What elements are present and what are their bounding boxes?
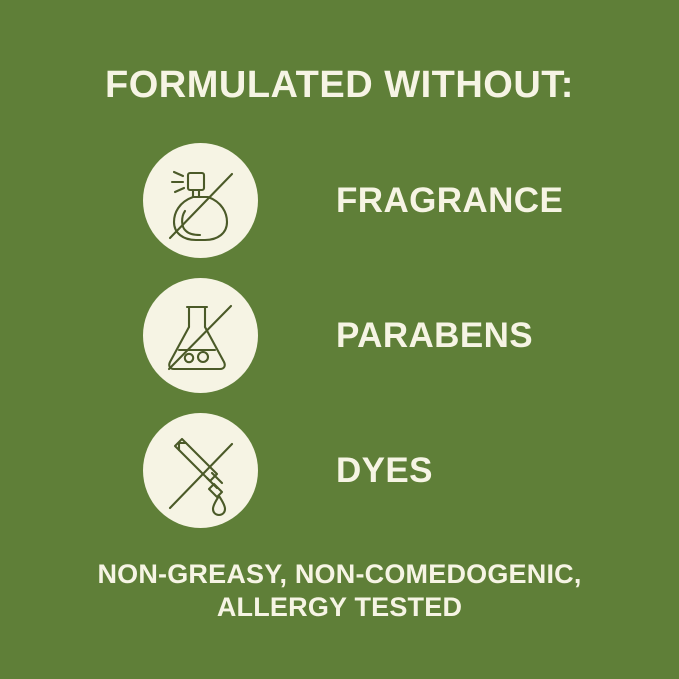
list-item-label: PARABENS xyxy=(336,278,533,393)
no-dropper-icon xyxy=(143,413,258,528)
page-title: FORMULATED WITHOUT: xyxy=(0,66,679,104)
list-item-label: FRAGRANCE xyxy=(336,143,563,258)
footer-line-1: NON-GREASY, NON-COMEDOGENIC, xyxy=(0,558,679,591)
list-item: PARABENS xyxy=(0,278,679,413)
formulated-without-panel: FORMULATED WITHOUT: xyxy=(0,0,679,679)
list-item-label: DYES xyxy=(336,413,433,528)
footer-claims: NON-GREASY, NON-COMEDOGENIC, ALLERGY TES… xyxy=(0,558,679,625)
no-fragrance-bottle-icon xyxy=(143,143,258,258)
no-flask-icon xyxy=(143,278,258,393)
footer-line-2: ALLERGY TESTED xyxy=(0,591,679,624)
claims-list: FRAGRANCE xyxy=(0,143,679,548)
list-item: DYES xyxy=(0,413,679,548)
list-item: FRAGRANCE xyxy=(0,143,679,278)
